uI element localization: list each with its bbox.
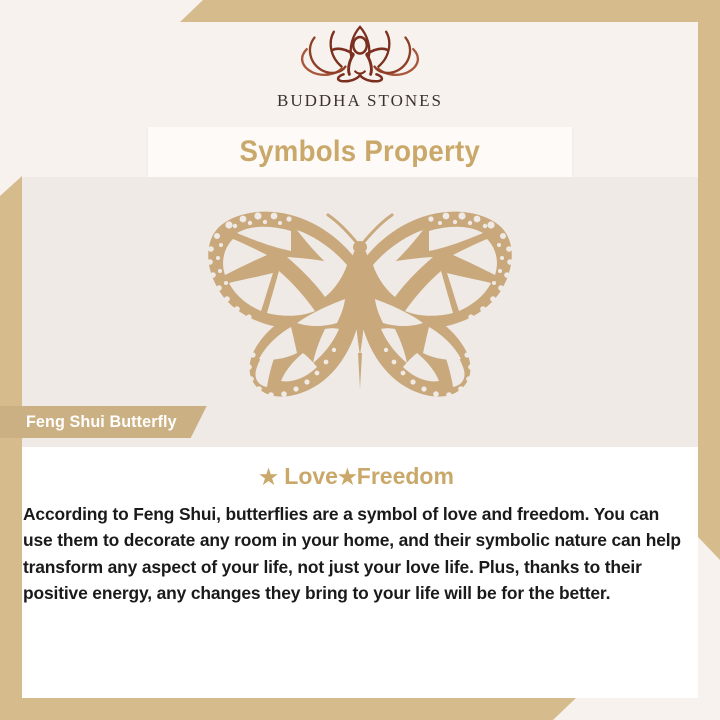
page-title: Symbols Property <box>240 135 481 169</box>
subtitle-word-love: Love <box>284 463 338 489</box>
promo-graphic-page: BUDDHA STONES Symbols Property <box>0 0 720 720</box>
star-icon-middle: ★ <box>338 466 357 489</box>
description-block: ★ Love★Freedom According to Feng Shui, b… <box>22 447 698 698</box>
star-icon-left: ★ <box>259 466 278 489</box>
brand-header: BUDDHA STONES <box>0 0 720 126</box>
subtitle-word-freedom: Freedom <box>357 463 454 489</box>
tag-label: Feng Shui Butterfly <box>26 412 177 432</box>
gold-frame-bottom-bar <box>0 698 720 720</box>
brand-name: BUDDHA STONES <box>277 91 443 111</box>
subtitle: ★ Love★Freedom <box>23 463 690 490</box>
gold-frame-left-strip <box>0 176 22 720</box>
feng-shui-butterfly-tag: Feng Shui Butterfly <box>0 406 207 438</box>
lotus-meditation-figure-icon <box>285 24 435 84</box>
description-paragraph: According to Feng Shui, butterflies are … <box>23 501 687 606</box>
title-banner: Symbols Property <box>148 127 572 177</box>
monarch-butterfly-icon <box>195 203 525 403</box>
